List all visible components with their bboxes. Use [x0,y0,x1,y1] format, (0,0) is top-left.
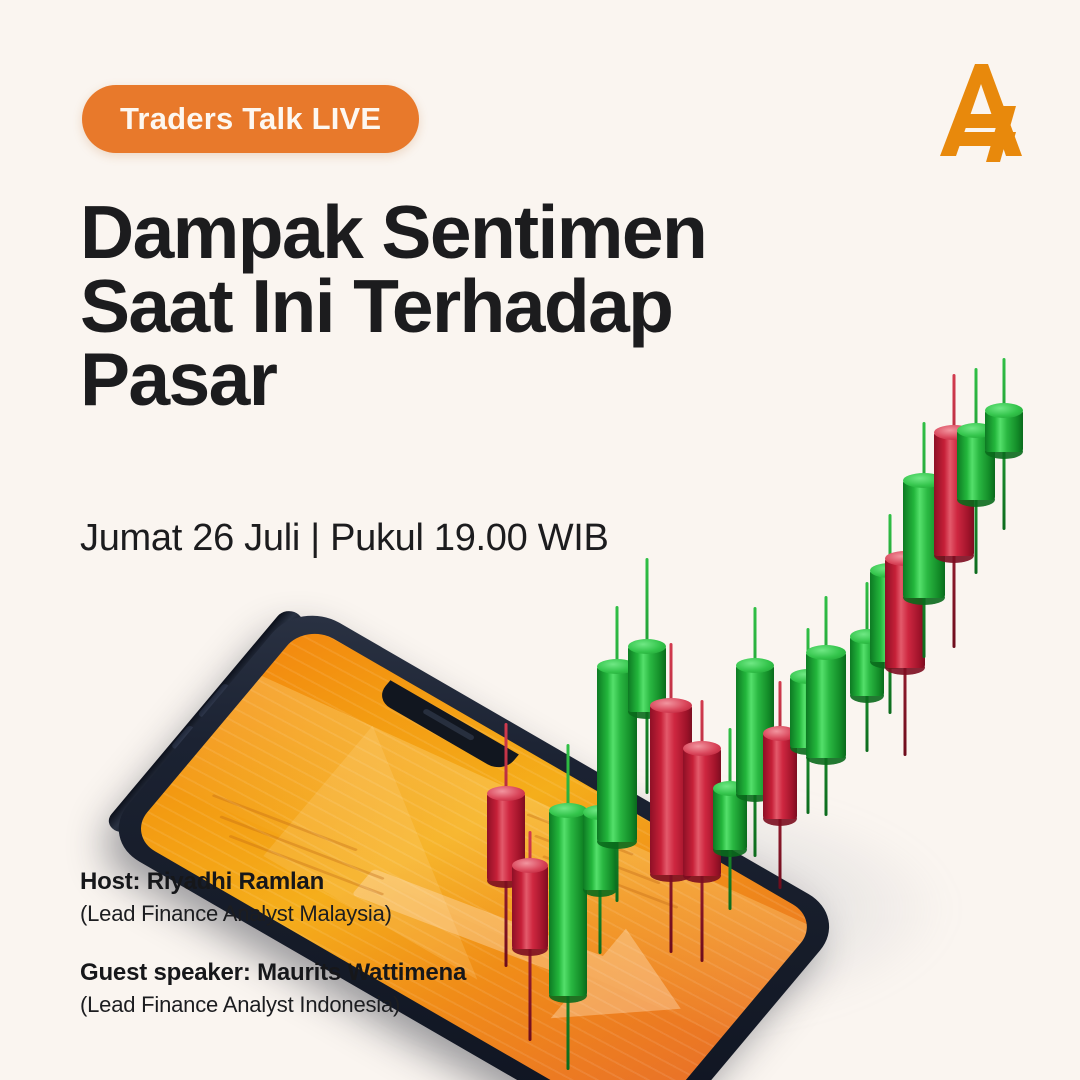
host-credit: Host: Riyadhi Ramlan (Lead Finance Analy… [80,868,600,927]
speaker-credits: Host: Riyadhi Ramlan (Lead Finance Analy… [80,868,600,1018]
host-name: Host: Riyadhi Ramlan [80,868,600,896]
headline-line-2: Saat Ini Terhadap [80,270,800,344]
event-datetime: Jumat 26 Juli | Pukul 19.00 WIB [80,517,609,560]
headline-line-3: Pasar [80,343,800,417]
promo-canvas: Traders Talk LIVE Dampak Sentimen Saat I… [0,0,1080,1080]
page-title: Dampak Sentimen Saat Ini Terhadap Pasar [80,196,800,417]
brand-logo [930,58,1030,162]
candlestick-up [985,358,1023,530]
a-monogram-icon [930,58,1030,162]
guest-name: Guest speaker: Maurits Wattimena [80,959,600,987]
live-badge[interactable]: Traders Talk LIVE [82,85,419,153]
host-role: (Lead Finance Analyst Malaysia) [80,901,600,927]
guest-role: (Lead Finance Analyst Indonesia) [80,992,600,1018]
candlestick-up [806,596,846,816]
candle-body [985,410,1023,452]
live-badge-label: Traders Talk LIVE [120,101,381,137]
headline-line-1: Dampak Sentimen [80,196,800,270]
candle-body [806,652,846,758]
guest-credit: Guest speaker: Maurits Wattimena (Lead F… [80,959,600,1018]
